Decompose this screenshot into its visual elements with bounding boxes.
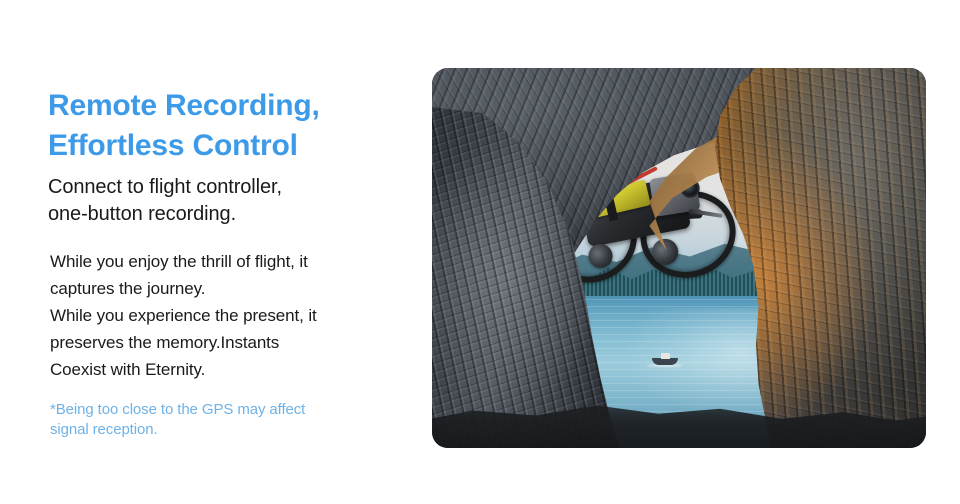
copy-column: Remote Recording, Effortless Control Con…	[48, 86, 420, 440]
subheadline: Connect to flight controller, one-button…	[48, 174, 420, 228]
boat-cabin	[661, 353, 670, 359]
boat-icon	[652, 351, 678, 365]
photo-scene	[432, 68, 926, 448]
body-paragraph: While you enjoy the thrill of flight, it…	[50, 249, 420, 383]
promo-card: Remote Recording, Effortless Control Con…	[0, 0, 960, 504]
page-title: Remote Recording, Effortless Control	[48, 86, 420, 166]
boat-hull	[652, 358, 678, 365]
product-photo	[432, 68, 926, 448]
footnote-disclaimer: *Being too close to the GPS may affect s…	[50, 400, 420, 441]
